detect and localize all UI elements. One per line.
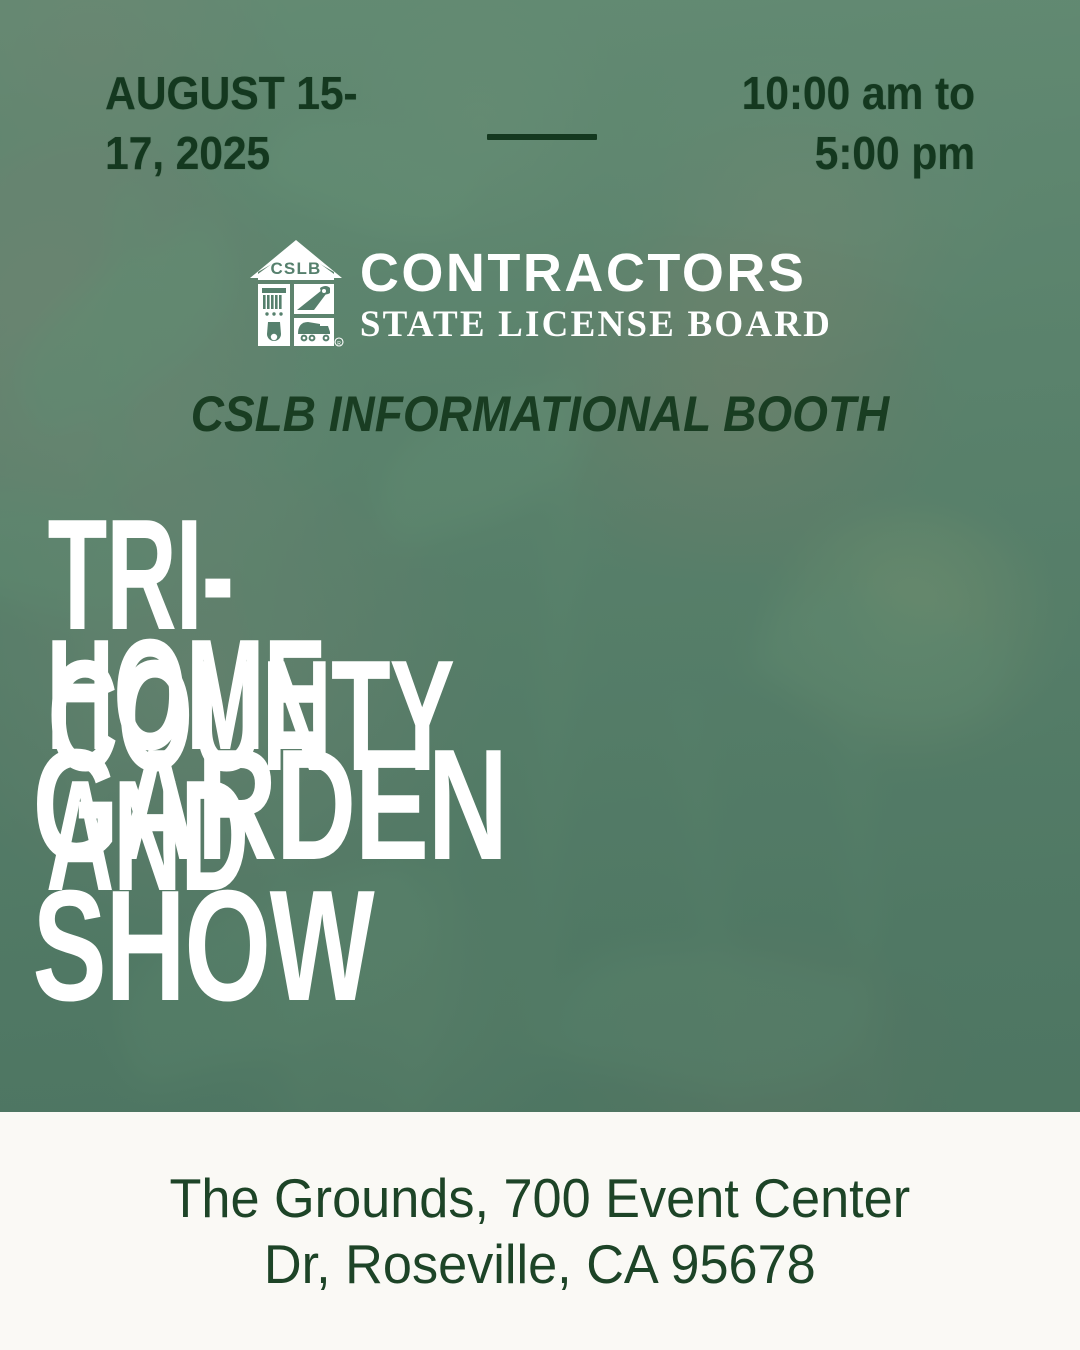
event-time-line1: 10:00 am to xyxy=(668,64,975,124)
event-title: TRI-COUNTY HOME AND GARDEN SHOW xyxy=(0,505,1080,845)
cslb-logo: CSLB xyxy=(0,238,1080,350)
event-flyer: AUGUST 15- 17, 2025 10:00 am to 5:00 pm … xyxy=(0,0,1080,1350)
event-time-line2: 5:00 pm xyxy=(668,124,975,184)
booth-subtitle: CSLB INFORMATIONAL BOOTH xyxy=(43,385,1037,443)
address-bar: The Grounds, 700 Event Center Dr, Rosevi… xyxy=(0,1112,1080,1350)
cslb-logo-line1: CONTRACTORS xyxy=(360,246,832,300)
svg-text:CSLB: CSLB xyxy=(270,259,321,278)
venue-address-line1: The Grounds, 700 Event Center xyxy=(170,1165,911,1231)
event-date-line2: 17, 2025 xyxy=(105,124,412,184)
event-title-line3: GARDEN SHOW xyxy=(32,735,187,845)
venue-address: The Grounds, 700 Event Center Dr, Rosevi… xyxy=(103,1165,977,1297)
header-divider-line xyxy=(487,134,597,140)
header-row: AUGUST 15- 17, 2025 10:00 am to 5:00 pm xyxy=(0,64,1080,184)
svg-text:R: R xyxy=(337,341,341,347)
cslb-logo-line2: STATE LICENSE BOARD xyxy=(360,306,832,343)
event-time: 10:00 am to 5:00 pm xyxy=(668,64,975,184)
cslb-house-logo-icon: CSLB xyxy=(248,238,344,350)
cslb-logo-wordmark: CONTRACTORS STATE LICENSE BOARD xyxy=(360,246,832,343)
flyer-content: AUGUST 15- 17, 2025 10:00 am to 5:00 pm … xyxy=(0,0,1080,1350)
venue-address-line2: Dr, Roseville, CA 95678 xyxy=(170,1231,911,1297)
event-date-line1: AUGUST 15- xyxy=(105,64,412,124)
event-date: AUGUST 15- 17, 2025 xyxy=(105,64,412,184)
